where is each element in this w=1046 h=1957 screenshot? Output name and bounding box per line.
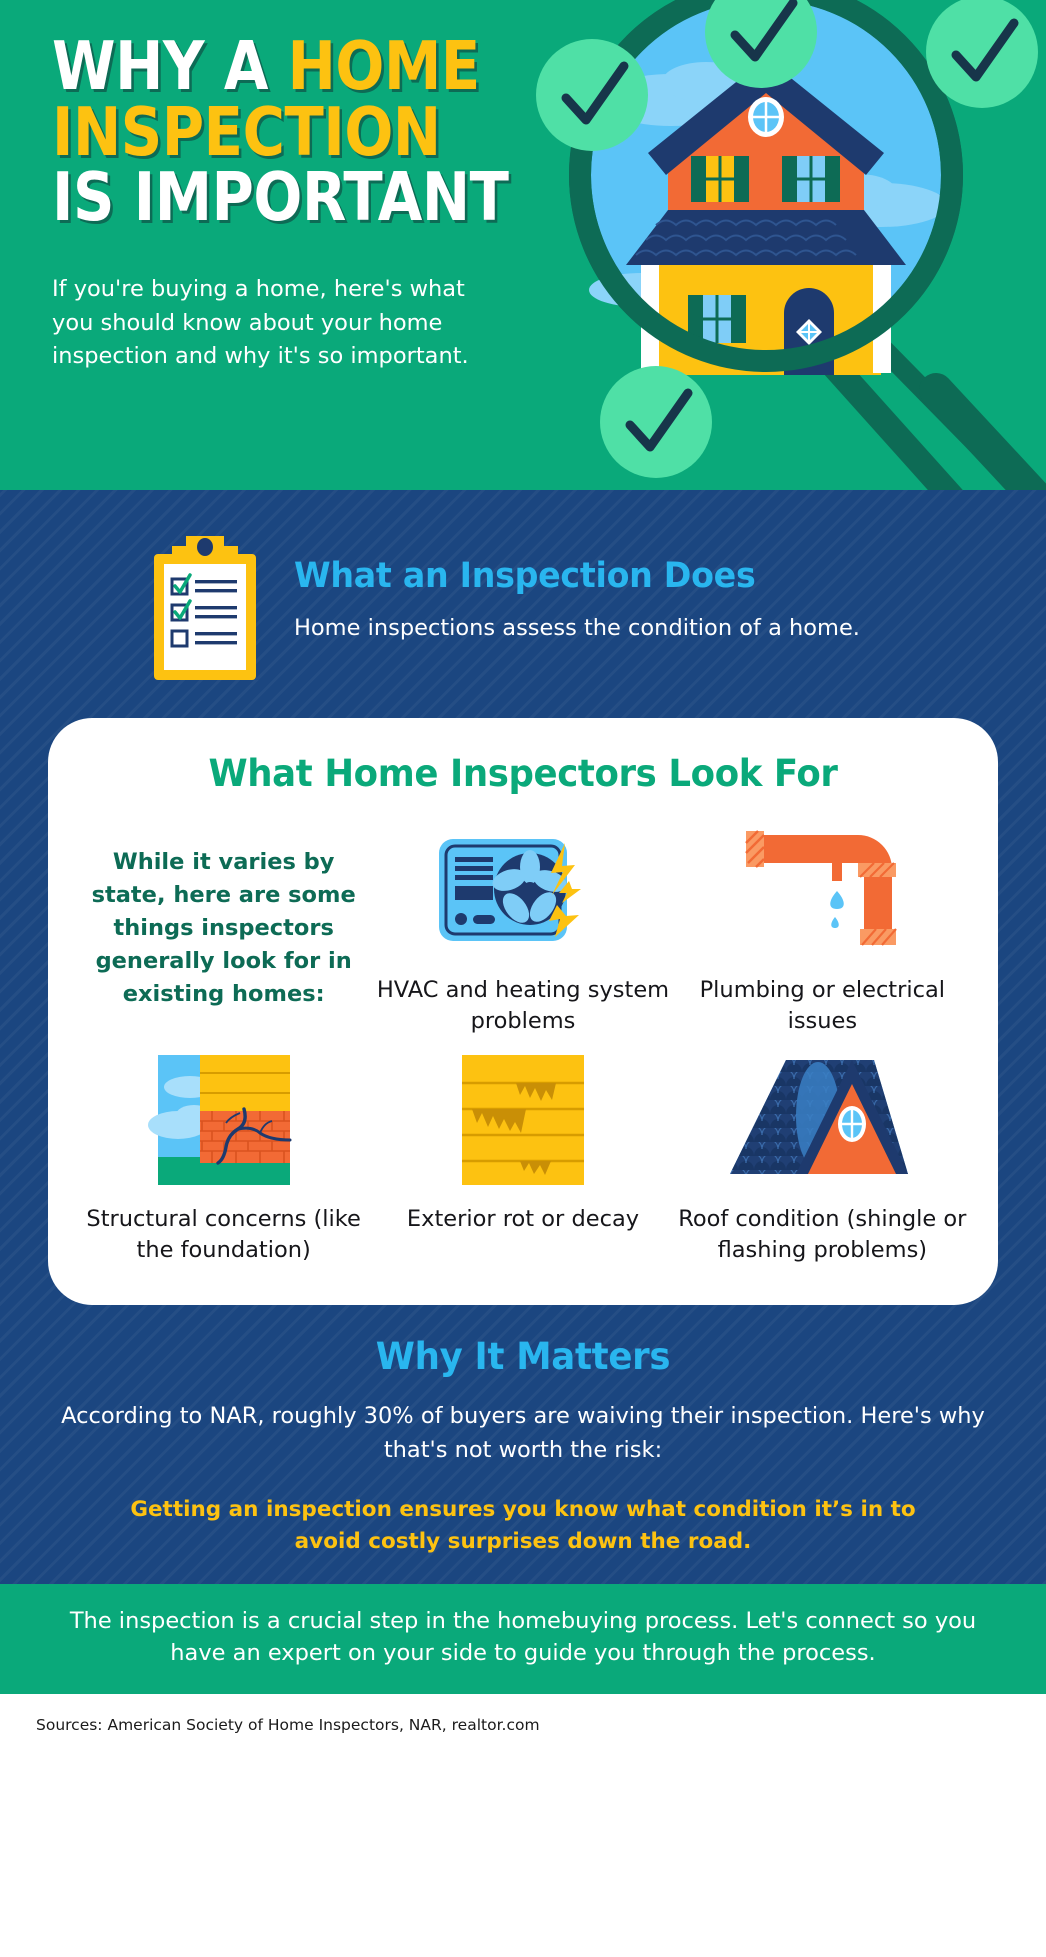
main-body: What an Inspection Does Home inspections… xyxy=(0,490,1046,1584)
look-for-grid: While it varies by state, here are some … xyxy=(74,821,972,1265)
look-for-item-hvac: HVAC and heating system problems xyxy=(373,821,672,1036)
look-for-item-rot: Exterior rot or decay xyxy=(373,1050,672,1265)
inspection-does-title: What an Inspection Does xyxy=(294,556,832,596)
look-for-title: What Home Inspectors Look For xyxy=(92,752,954,795)
infographic-page: WHY A HOME INSPECTION IS IMPORTANT If yo… xyxy=(0,0,1046,1957)
shingle-roof-icon xyxy=(722,1058,922,1182)
hvac-unit-icon xyxy=(433,831,613,951)
pipe-leak-icon xyxy=(732,829,912,954)
clipboard-checklist-icon xyxy=(152,532,258,682)
inspection-does-section: What an Inspection Does Home inspections… xyxy=(0,490,1046,682)
look-for-caption: HVAC and heating system problems xyxy=(373,975,672,1036)
sources-footer: Sources: American Society of Home Inspec… xyxy=(0,1694,1046,1756)
look-for-item-plumbing: Plumbing or electrical issues xyxy=(673,821,972,1036)
look-for-caption: Plumbing or electrical issues xyxy=(673,975,972,1036)
hero-section: WHY A HOME INSPECTION IS IMPORTANT If yo… xyxy=(0,0,1046,490)
check-bubble-3 xyxy=(926,0,1038,108)
look-for-item-structural: Structural concerns (like the foundation… xyxy=(74,1050,373,1265)
why-it-matters-title: Why It Matters xyxy=(79,1335,968,1378)
title-line3: IS IMPORTANT xyxy=(52,165,540,231)
inspection-does-body: Home inspections assess the condition of… xyxy=(294,612,860,645)
cta-banner: The inspection is a crucial step in the … xyxy=(0,1584,1046,1694)
cracked-foundation-icon xyxy=(144,1053,304,1187)
look-for-caption: Roof condition (shingle or flashing prob… xyxy=(673,1204,972,1265)
look-for-caption: Structural concerns (like the foundation… xyxy=(74,1204,373,1265)
inspectors-look-for-card: What Home Inspectors Look For While it v… xyxy=(48,718,998,1305)
why-it-matters-highlight: Getting an inspection ensures you know w… xyxy=(60,1494,986,1559)
look-for-lead: While it varies by state, here are some … xyxy=(74,821,373,1036)
why-it-matters-body: According to NAR, roughly 30% of buyers … xyxy=(60,1400,986,1468)
page-title: WHY A HOME INSPECTION IS IMPORTANT xyxy=(52,34,540,231)
rotting-siding-icon xyxy=(458,1053,588,1187)
look-for-caption: Exterior rot or decay xyxy=(407,1204,639,1235)
check-bubble-4 xyxy=(600,366,712,478)
hero-subtitle: If you're buying a home, here's what you… xyxy=(52,273,492,374)
look-for-item-roof: Roof condition (shingle or flashing prob… xyxy=(673,1050,972,1265)
why-it-matters-section: Why It Matters According to NAR, roughly… xyxy=(0,1305,1046,1558)
title-line2: INSPECTION xyxy=(52,100,540,166)
